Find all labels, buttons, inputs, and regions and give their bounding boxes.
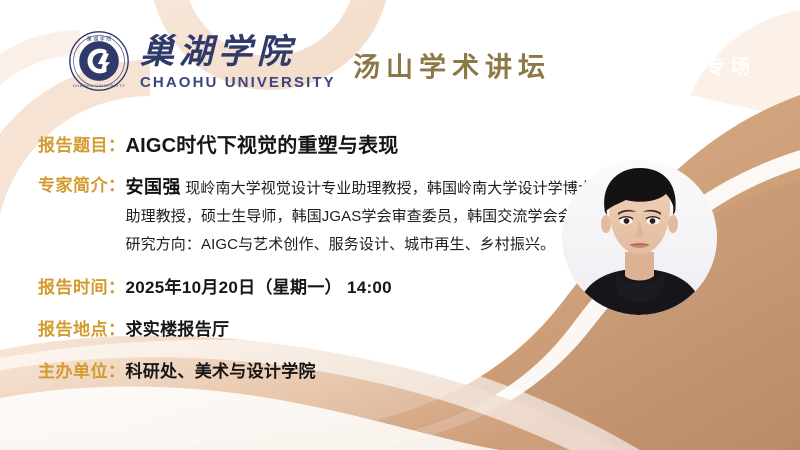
- label-report-place: 报告地点：: [38, 317, 126, 343]
- row-report-place: 报告地点： 求实楼报告厅: [38, 317, 598, 343]
- label-report-title: 报告题目：: [38, 133, 126, 159]
- poster-canvas: 巢 湖 学 院 CHAOHU UNIVERSITY 巢湖学院 CHAOHU UN…: [0, 0, 800, 450]
- forum-banner: 汤山学术讲坛 专家学者专场: [305, 41, 800, 88]
- wave-bottom-left-white: [0, 387, 500, 450]
- forum-banner-subtitle: 专家学者专场: [605, 50, 755, 79]
- speaker-bio-line-3: 研究方向：AIGC与艺术创作、服务设计、城市再生、乡村振兴。: [126, 236, 556, 253]
- row-host-unit: 主办单位： 科研处、美术与设计学院: [38, 359, 598, 385]
- label-host-unit: 主办单位：: [38, 359, 126, 385]
- university-name-cn: 巢湖学院: [140, 33, 336, 71]
- svg-text:CHAOHU UNIVERSITY: CHAOHU UNIVERSITY: [73, 83, 126, 88]
- university-name-en: CHAOHU UNIVERSITY: [140, 73, 336, 92]
- row-speaker-bio: 专家简介： 安国强 现岭南大学视觉设计专业助理教授，韩国岭南大学设计学博士， 助…: [38, 173, 598, 259]
- value-report-place: 求实楼报告厅: [126, 317, 230, 343]
- speaker-name: 安国强: [126, 177, 182, 197]
- speaker-bio-text-1: 现岭南大学视觉设计专业助理教授，韩国岭南大学设计学博士，: [185, 180, 608, 197]
- university-name-block: 巢湖学院 CHAOHU UNIVERSITY: [140, 33, 336, 92]
- row-report-time: 报告时间： 2025年10月20日（星期一） 14:00: [38, 275, 598, 301]
- banner-divider: [582, 50, 584, 79]
- university-brand: 巢 湖 学 院 CHAOHU UNIVERSITY 巢湖学院 CHAOHU UN…: [68, 30, 336, 92]
- value-report-title: AIGC时代下视觉的重塑与表现: [126, 133, 399, 159]
- poster-content: 报告题目： AIGC时代下视觉的重塑与表现 专家简介： 安国强 现岭南大学视觉设…: [38, 133, 598, 385]
- row-report-title: 报告题目： AIGC时代下视觉的重塑与表现: [38, 133, 598, 159]
- value-report-time: 2025年10月20日（星期一） 14:00: [126, 275, 392, 301]
- value-host-unit: 科研处、美术与设计学院: [126, 359, 316, 385]
- forum-banner-title: 汤山学术讲坛: [353, 45, 551, 84]
- label-speaker-bio: 专家简介：: [38, 173, 126, 199]
- speaker-bio-line-2: 助理教授，硕士生导师，韩国JGAS学会审查委员，韩国交流学会会员。: [126, 208, 603, 225]
- label-report-time: 报告时间：: [38, 275, 126, 301]
- svg-text:巢 湖 学 院: 巢 湖 学 院: [87, 36, 112, 43]
- speaker-portrait: [562, 160, 717, 315]
- chaohu-university-emblem-icon: 巢 湖 学 院 CHAOHU UNIVERSITY: [68, 30, 130, 92]
- speaker-bio-line-1: 安国强 现岭南大学视觉设计专业助理教授，韩国岭南大学设计学博士，: [126, 180, 609, 197]
- speaker-bio-body: 安国强 现岭南大学视觉设计专业助理教授，韩国岭南大学设计学博士， 助理教授，硕士…: [126, 173, 596, 259]
